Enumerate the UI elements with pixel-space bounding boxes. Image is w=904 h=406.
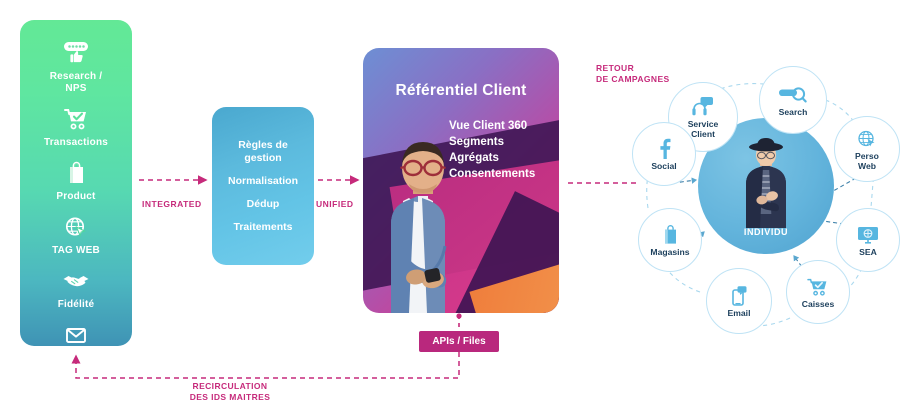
headset-chat-icon — [691, 96, 715, 118]
data-sources-panel: Research /NPS Transactions Product — [20, 20, 132, 346]
card-title: Référentiel Client — [363, 82, 559, 100]
referentiel-client-card: Référentiel Client Vue Client 360 Segmen… — [363, 48, 559, 313]
card-bullet-list: Vue Client 360 Segments Agrégats Consent… — [449, 118, 535, 182]
customer-ecosystem: INDIVIDU ServiceClient Search — [604, 60, 904, 350]
label-recirculation: RECIRCULATIONDES IDS MAITRES — [0, 381, 460, 403]
eco-node-social[interactable]: Social — [632, 122, 696, 186]
individu-label: INDIVIDU — [698, 227, 834, 237]
source-item-tag-web[interactable]: TAG WEB — [20, 212, 132, 257]
source-item-engagement[interactable]: Engagement — [20, 320, 132, 365]
eco-label-search: Search — [779, 107, 808, 117]
source-label-fidelite: Fidélité — [58, 299, 95, 311]
shopping-cart-check-icon — [61, 104, 91, 134]
eco-label-email: Email — [728, 308, 751, 318]
rule-line-regles-gestion: Règles degestion — [238, 139, 288, 165]
eco-label-magasins: Magasins — [650, 247, 689, 257]
rule-line-dedup: Dédup — [247, 198, 280, 211]
apis-files-badge[interactable]: APIs / Files — [419, 331, 499, 352]
source-label-transactions: Transactions — [44, 137, 108, 149]
source-label-tag-web: TAG WEB — [52, 245, 100, 257]
eco-node-perso-web[interactable]: PersoWeb — [834, 116, 900, 182]
eco-node-email[interactable]: Email — [706, 268, 772, 334]
mobile-message-icon — [729, 285, 749, 307]
source-label-research-nps: Research /NPS — [50, 71, 103, 95]
eco-label-caisses: Caisses — [802, 299, 835, 309]
source-item-transactions[interactable]: Transactions — [20, 104, 132, 149]
eco-node-caisses[interactable]: Caisses — [786, 260, 850, 324]
shopping-bag-icon — [660, 224, 680, 246]
source-item-fidelite[interactable]: Fidélité — [20, 266, 132, 311]
globe-cursor-icon — [61, 212, 91, 242]
label-integrated: INTEGRATED — [142, 199, 202, 209]
source-label-engagement: Engagement — [45, 353, 107, 365]
card-bullet-vue-client: Vue Client 360 — [449, 118, 535, 134]
eco-node-sea[interactable]: SEA — [836, 208, 900, 272]
eco-label-social: Social — [651, 161, 676, 171]
eco-label-sea: SEA — [859, 247, 877, 257]
source-item-research-nps[interactable]: Research /NPS — [20, 38, 132, 95]
facebook-icon — [656, 138, 672, 160]
label-unified: UNIFIED — [316, 199, 354, 209]
card-bullet-agregats: Agrégats — [449, 150, 535, 166]
envelope-icon — [61, 320, 91, 350]
arrow-recirculation — [76, 352, 459, 378]
rules-processing-box: Règles degestion Normalisation Dédup Tra… — [212, 107, 314, 265]
source-label-product: Product — [56, 191, 95, 203]
handshake-icon — [61, 266, 91, 296]
eco-node-magasins[interactable]: Magasins — [638, 208, 702, 272]
monitor-ads-icon — [856, 224, 880, 246]
eco-node-search[interactable]: Search — [759, 66, 827, 134]
eco-label-perso-web: PersoWeb — [855, 151, 879, 171]
source-item-product[interactable]: Product — [20, 158, 132, 203]
shopping-bag-icon — [61, 158, 91, 188]
person-photo-icon — [738, 136, 794, 228]
search-bar-icon — [779, 84, 807, 106]
shopping-cart-check-icon — [806, 276, 831, 298]
card-bullet-consentements: Consentements — [449, 166, 535, 182]
eco-label-service-client: ServiceClient — [688, 119, 719, 139]
rule-line-traitements: Traitements — [234, 221, 293, 234]
globe-cursor-icon — [856, 128, 878, 150]
rule-line-normalisation: Normalisation — [228, 175, 298, 188]
survey-rating-icon — [61, 38, 91, 68]
card-bullet-segments: Segments — [449, 134, 535, 150]
connector-dot — [456, 313, 461, 318]
